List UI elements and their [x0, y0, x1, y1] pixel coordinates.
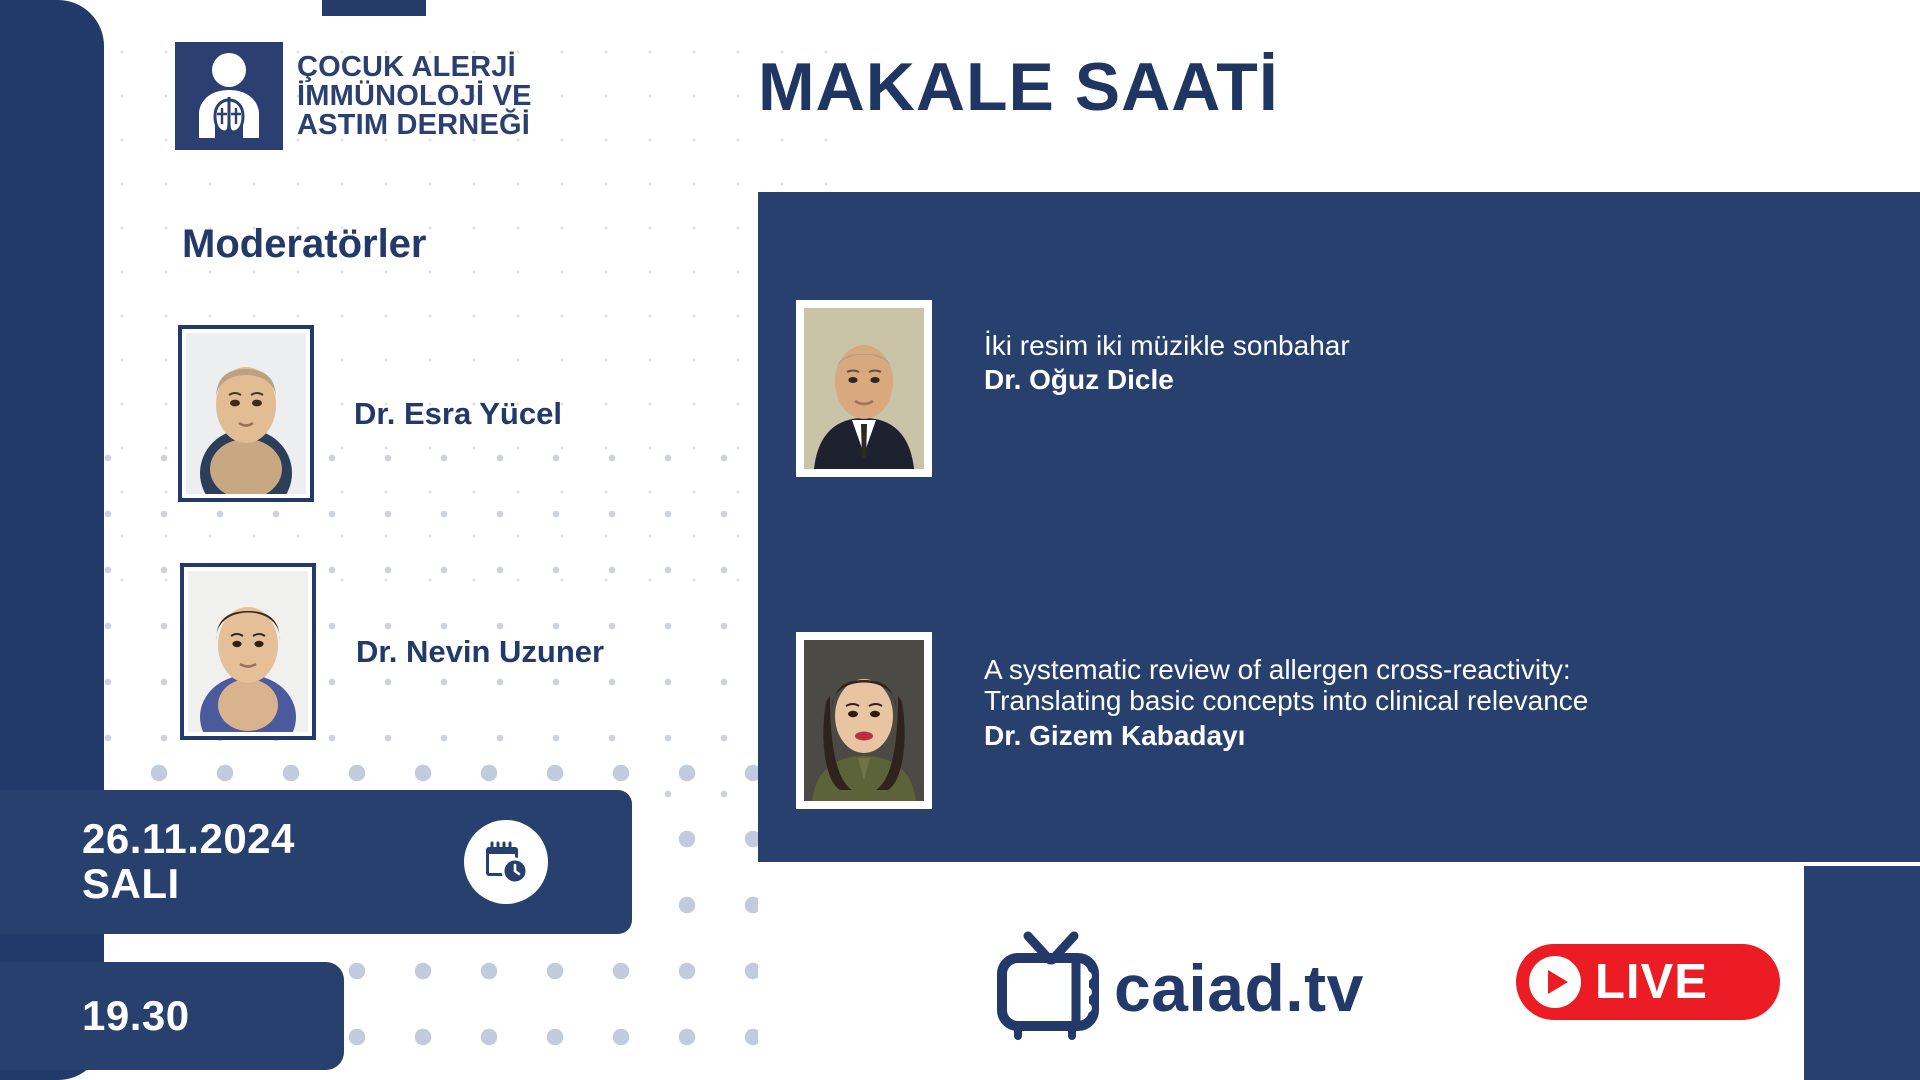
channel-name: caiad.tv: [1114, 950, 1364, 1026]
live-badge[interactable]: LIVE: [1516, 944, 1780, 1020]
logo-line-3: ASTIM DERNEĞİ: [297, 111, 532, 140]
moderator-name: Dr. Nevin Uzuner: [356, 634, 604, 670]
moderator-name: Dr. Esra Yücel: [354, 396, 562, 432]
date-text: 26.11.2024 SALI: [82, 817, 295, 907]
moderator-item: Dr. Nevin Uzuner: [180, 563, 604, 740]
association-logo: ÇOCUK ALERJİ İMMÜNOLOJİ VE ASTIM DERNEĞİ: [175, 42, 532, 150]
top-accent-tab: [322, 0, 426, 16]
social-program-person: Dr. Oğuz Dicle: [984, 364, 1350, 396]
page-title: MAKALE SAATİ: [758, 48, 1279, 126]
tv-icon: [992, 930, 1108, 1045]
avatar: [796, 632, 932, 809]
person-lungs-icon: [175, 42, 283, 150]
event-time: 19.30: [82, 992, 190, 1040]
time-block: 19.30: [0, 962, 344, 1070]
moderator-item: Dr. Esra Yücel: [178, 325, 562, 502]
avatar: [796, 300, 932, 477]
speaker-person: Dr. Gizem Kabadayı: [984, 720, 1588, 752]
calendar-clock-icon: [464, 820, 548, 904]
footer-right-fill: [1804, 866, 1920, 1080]
live-label: LIVE: [1595, 954, 1708, 1010]
moderators-heading: Moderatörler: [182, 222, 427, 267]
event-date: 26.11.2024: [82, 817, 295, 862]
speaker-topic-line-1: A systematic review of allergen cross-re…: [984, 654, 1588, 685]
logo-line-1: ÇOCUK ALERJİ: [297, 53, 532, 82]
event-day: SALI: [82, 862, 295, 907]
avatar: [180, 563, 316, 740]
play-icon: [1529, 956, 1581, 1008]
date-block: 26.11.2024 SALI: [0, 790, 632, 934]
association-logo-text: ÇOCUK ALERJİ İMMÜNOLOJİ VE ASTIM DERNEĞİ: [297, 53, 532, 140]
social-program-topic: İki resim iki müzikle sonbahar: [984, 330, 1350, 361]
speaker-entry: A systematic review of allergen cross-re…: [796, 632, 1588, 809]
social-program-entry: İki resim iki müzikle sonbahar Dr. Oğuz …: [796, 300, 1350, 477]
channel-logo[interactable]: caiad.tv: [992, 930, 1364, 1045]
speaker-topic-line-2: Translating basic concepts into clinical…: [984, 685, 1588, 716]
avatar: [178, 325, 314, 502]
logo-line-2: İMMÜNOLOJİ VE: [297, 82, 532, 111]
